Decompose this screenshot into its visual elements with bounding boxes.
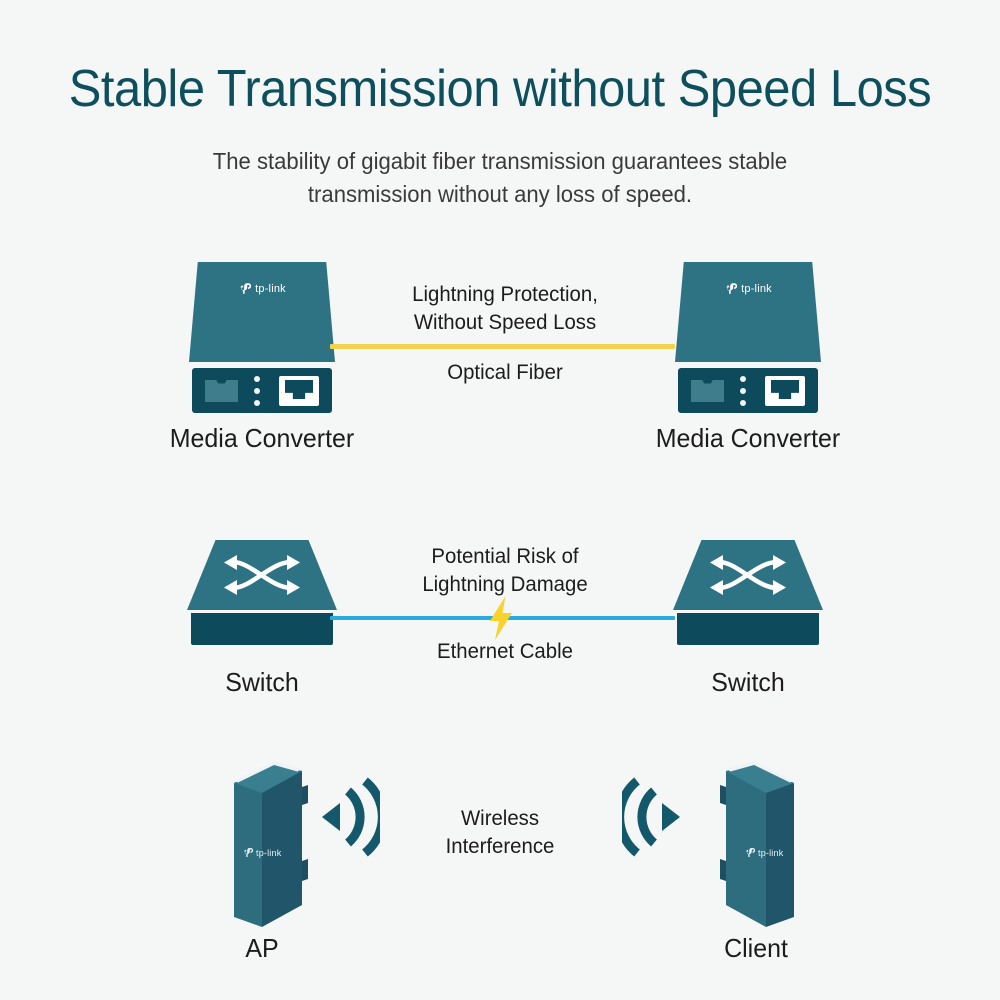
media-converter-right-caption: Media Converter <box>652 423 844 454</box>
tp-link-logo-icon <box>724 282 737 295</box>
status-led-group <box>740 376 748 406</box>
wireless-link-annotation: Wireless Interference <box>393 805 606 860</box>
fiber-medium-label: Optical Fiber <box>345 359 665 387</box>
access-point-device[interactable]: tp-link <box>228 757 316 929</box>
page-title: Stable Transmission without Speed Loss <box>30 62 970 117</box>
ethernet-annotation-line-1: Potential Risk of <box>345 543 665 571</box>
media-converter-right-front-panel <box>678 368 818 413</box>
access-point-caption: AP <box>176 933 349 964</box>
client-brand-logo: tp-link <box>744 847 783 858</box>
crossing-arrows-icon <box>707 552 789 598</box>
page-subtitle: The stability of gigabit fiber transmiss… <box>135 145 865 210</box>
client-device[interactable]: tp-link <box>712 757 800 929</box>
switch-right-chassis-top <box>673 540 823 610</box>
status-led <box>740 388 746 394</box>
client-brand-text: tp-link <box>758 848 783 858</box>
media-converter-left-brand-logo: tp-link <box>189 282 335 295</box>
ethernet-medium-label: Ethernet Cable <box>345 638 665 666</box>
media-converter-left-front-panel <box>192 368 332 413</box>
rj45-port-icon <box>279 376 319 406</box>
wifi-waves-icon <box>318 777 380 857</box>
lightning-bolt-icon <box>486 596 516 640</box>
status-led-group <box>254 376 262 406</box>
rj45-port-icon <box>765 376 805 406</box>
infographic-canvas: Stable Transmission without Speed Loss T… <box>0 0 1000 1000</box>
status-led <box>254 400 260 406</box>
client-caption: Client <box>670 933 843 964</box>
ethernet-annotation-line-2: Lightning Damage <box>345 571 665 599</box>
wireless-annotation-line-1: Wireless <box>393 805 606 833</box>
fiber-annotation-line-1: Lightning Protection, <box>345 281 665 309</box>
media-converter-left-caption: Media Converter <box>166 423 358 454</box>
switch-left[interactable] <box>187 540 337 645</box>
status-led <box>740 400 746 406</box>
access-point-brand-logo: tp-link <box>242 847 281 858</box>
optical-fiber-link-line <box>330 344 675 349</box>
subtitle-line-2: transmission without any loss of speed. <box>135 178 865 211</box>
media-converter-right[interactable]: tp-link <box>675 250 821 410</box>
crossing-arrows-icon <box>221 552 303 598</box>
switch-left-chassis-base <box>191 613 333 645</box>
client-body <box>712 757 800 929</box>
access-point-brand-text: tp-link <box>256 848 281 858</box>
subtitle-line-1: The stability of gigabit fiber transmiss… <box>135 145 865 178</box>
media-converter-left-brand-text: tp-link <box>255 283 286 295</box>
tp-link-logo-icon <box>744 847 755 858</box>
tp-link-logo-icon <box>238 282 251 295</box>
switch-right[interactable] <box>673 540 823 645</box>
media-converter-left[interactable]: tp-link <box>189 250 335 410</box>
access-point-body <box>228 757 316 929</box>
fiber-annotation-line-2: Without Speed Loss <box>345 309 665 337</box>
wifi-waves-icon <box>622 777 684 857</box>
status-led <box>254 388 260 394</box>
status-led <box>740 376 746 382</box>
switch-right-chassis-base <box>677 613 819 645</box>
media-converter-right-brand-text: tp-link <box>741 283 772 295</box>
switch-right-caption: Switch <box>652 667 844 698</box>
media-converter-right-chassis-top: tp-link <box>675 262 821 362</box>
wireless-annotation-line-2: Interference <box>393 833 606 861</box>
media-converter-right-brand-logo: tp-link <box>675 282 821 295</box>
fiber-link-annotation: Lightning Protection, Without Speed Loss <box>345 281 665 336</box>
ethernet-link-annotation: Potential Risk of Lightning Damage <box>345 543 665 598</box>
status-led <box>254 376 260 382</box>
sfp-slot-icon <box>691 380 724 402</box>
switch-left-chassis-top <box>187 540 337 610</box>
switch-left-caption: Switch <box>166 667 358 698</box>
tp-link-logo-icon <box>242 847 253 858</box>
sfp-slot-icon <box>205 380 238 402</box>
media-converter-left-chassis-top: tp-link <box>189 262 335 362</box>
